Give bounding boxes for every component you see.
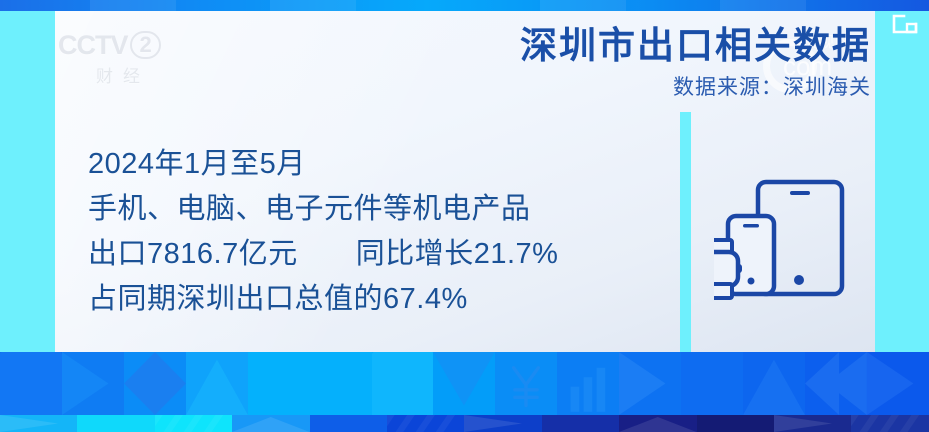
pattern-cell-none <box>248 352 310 415</box>
pattern-cell-none <box>681 352 743 415</box>
pattern-cell-triangle-right <box>62 352 124 415</box>
text-line-share: 占同期深圳出口总值的67.4% <box>88 277 648 322</box>
picture-in-picture-icon[interactable] <box>892 14 918 36</box>
pattern-shape-triangle-right <box>774 415 851 432</box>
vertical-divider <box>680 112 691 352</box>
pattern-shape-triangle-right <box>619 352 681 415</box>
pattern-shape-triangle-right <box>867 352 929 415</box>
strip-tile <box>720 0 806 11</box>
pattern-row-secondary <box>0 415 929 432</box>
text-line-export-row: 出口7816.7亿元同比增长21.7% <box>88 232 648 277</box>
pattern-shape-circle <box>372 352 434 415</box>
export-value-text: 出口7816.7亿元 <box>88 238 298 270</box>
pattern-shape-triangle-right <box>62 352 124 415</box>
broadcast-graphic: CCTV2 财经 央视网 com 深圳市出口相关数据 数据来源：深圳海关 202… <box>0 0 929 432</box>
strip-tile <box>540 0 626 11</box>
pattern-shape-triangle-right <box>0 415 77 432</box>
pattern-cell-triangle-right <box>774 415 851 432</box>
pattern-shape-triangle-right <box>464 415 541 432</box>
pattern-cell-circle <box>0 352 62 415</box>
text-line-period: 2024年1月至5月 <box>88 142 648 187</box>
pattern-shape-diamond <box>124 352 186 415</box>
pattern-shape-triangle-up <box>743 352 805 415</box>
cctv-channel-logo: CCTV2 财经 <box>58 30 188 88</box>
pattern-cell-none <box>310 352 372 415</box>
pattern-shape-stripes <box>851 415 928 432</box>
pattern-cell-yen <box>495 352 557 415</box>
pattern-cell-bars <box>557 352 619 415</box>
pattern-shape-triangle-up <box>232 415 309 432</box>
pattern-cell-triangle-up <box>619 415 696 432</box>
pattern-shape-bars <box>557 352 619 415</box>
pattern-shape-yen <box>495 352 557 415</box>
headline-block: 深圳市出口相关数据 数据来源：深圳海关 <box>520 24 871 104</box>
pattern-cell-stripes <box>851 415 928 432</box>
pattern-shape-chevron <box>805 352 867 415</box>
pattern-row-primary <box>0 352 929 415</box>
pattern-shape-triangle-up <box>619 415 696 432</box>
pattern-cell-triangle-up <box>232 415 309 432</box>
pattern-cell-chevron <box>805 352 867 415</box>
pattern-shape-stripes <box>155 415 232 432</box>
top-accent-strip <box>0 0 929 11</box>
pattern-shape-stripes <box>387 415 464 432</box>
logo-channel-number: 2 <box>130 31 161 59</box>
text-line-product: 手机、电脑、电子元件等机电产品 <box>88 187 648 232</box>
bottom-pattern-band <box>0 352 929 432</box>
pattern-shape-triangle-down <box>433 352 495 415</box>
pattern-cell-triangle-right <box>867 352 929 415</box>
pattern-cell-circle <box>372 352 434 415</box>
pattern-cell-triangle-down <box>433 352 495 415</box>
pattern-cell-triangle-right <box>619 352 681 415</box>
pattern-cell-stripes <box>155 415 232 432</box>
strip-tile <box>90 0 176 11</box>
pattern-cell-triangle-right <box>0 415 77 432</box>
page-title: 深圳市出口相关数据 <box>520 24 871 68</box>
tablet-phone-watch-icon <box>714 170 854 310</box>
pattern-shape-circle <box>0 352 62 415</box>
logo-mark-text: CCTV <box>58 30 128 60</box>
pattern-cell-none <box>697 415 774 432</box>
pattern-cell-diamond <box>124 352 186 415</box>
strip-tile <box>270 0 356 11</box>
left-cyan-band <box>0 11 55 352</box>
pattern-cell-none <box>542 415 619 432</box>
pattern-cell-none <box>310 415 387 432</box>
pattern-cell-triangle-up <box>186 352 248 415</box>
growth-rate-text: 同比增长21.7% <box>356 238 559 270</box>
data-source-label: 数据来源：深圳海关 <box>520 72 871 104</box>
pattern-shape-triangle-up <box>186 352 248 415</box>
pattern-cell-stripes <box>387 415 464 432</box>
logo-subtitle: 财经 <box>58 62 188 87</box>
right-cyan-band <box>875 11 929 352</box>
pattern-cell-triangle-right <box>464 415 541 432</box>
statistics-text-block: 2024年1月至5月 手机、电脑、电子元件等机电产品 出口7816.7亿元同比增… <box>88 142 648 322</box>
pattern-cell-triangle-up <box>743 352 805 415</box>
pattern-cell-none <box>77 415 154 432</box>
